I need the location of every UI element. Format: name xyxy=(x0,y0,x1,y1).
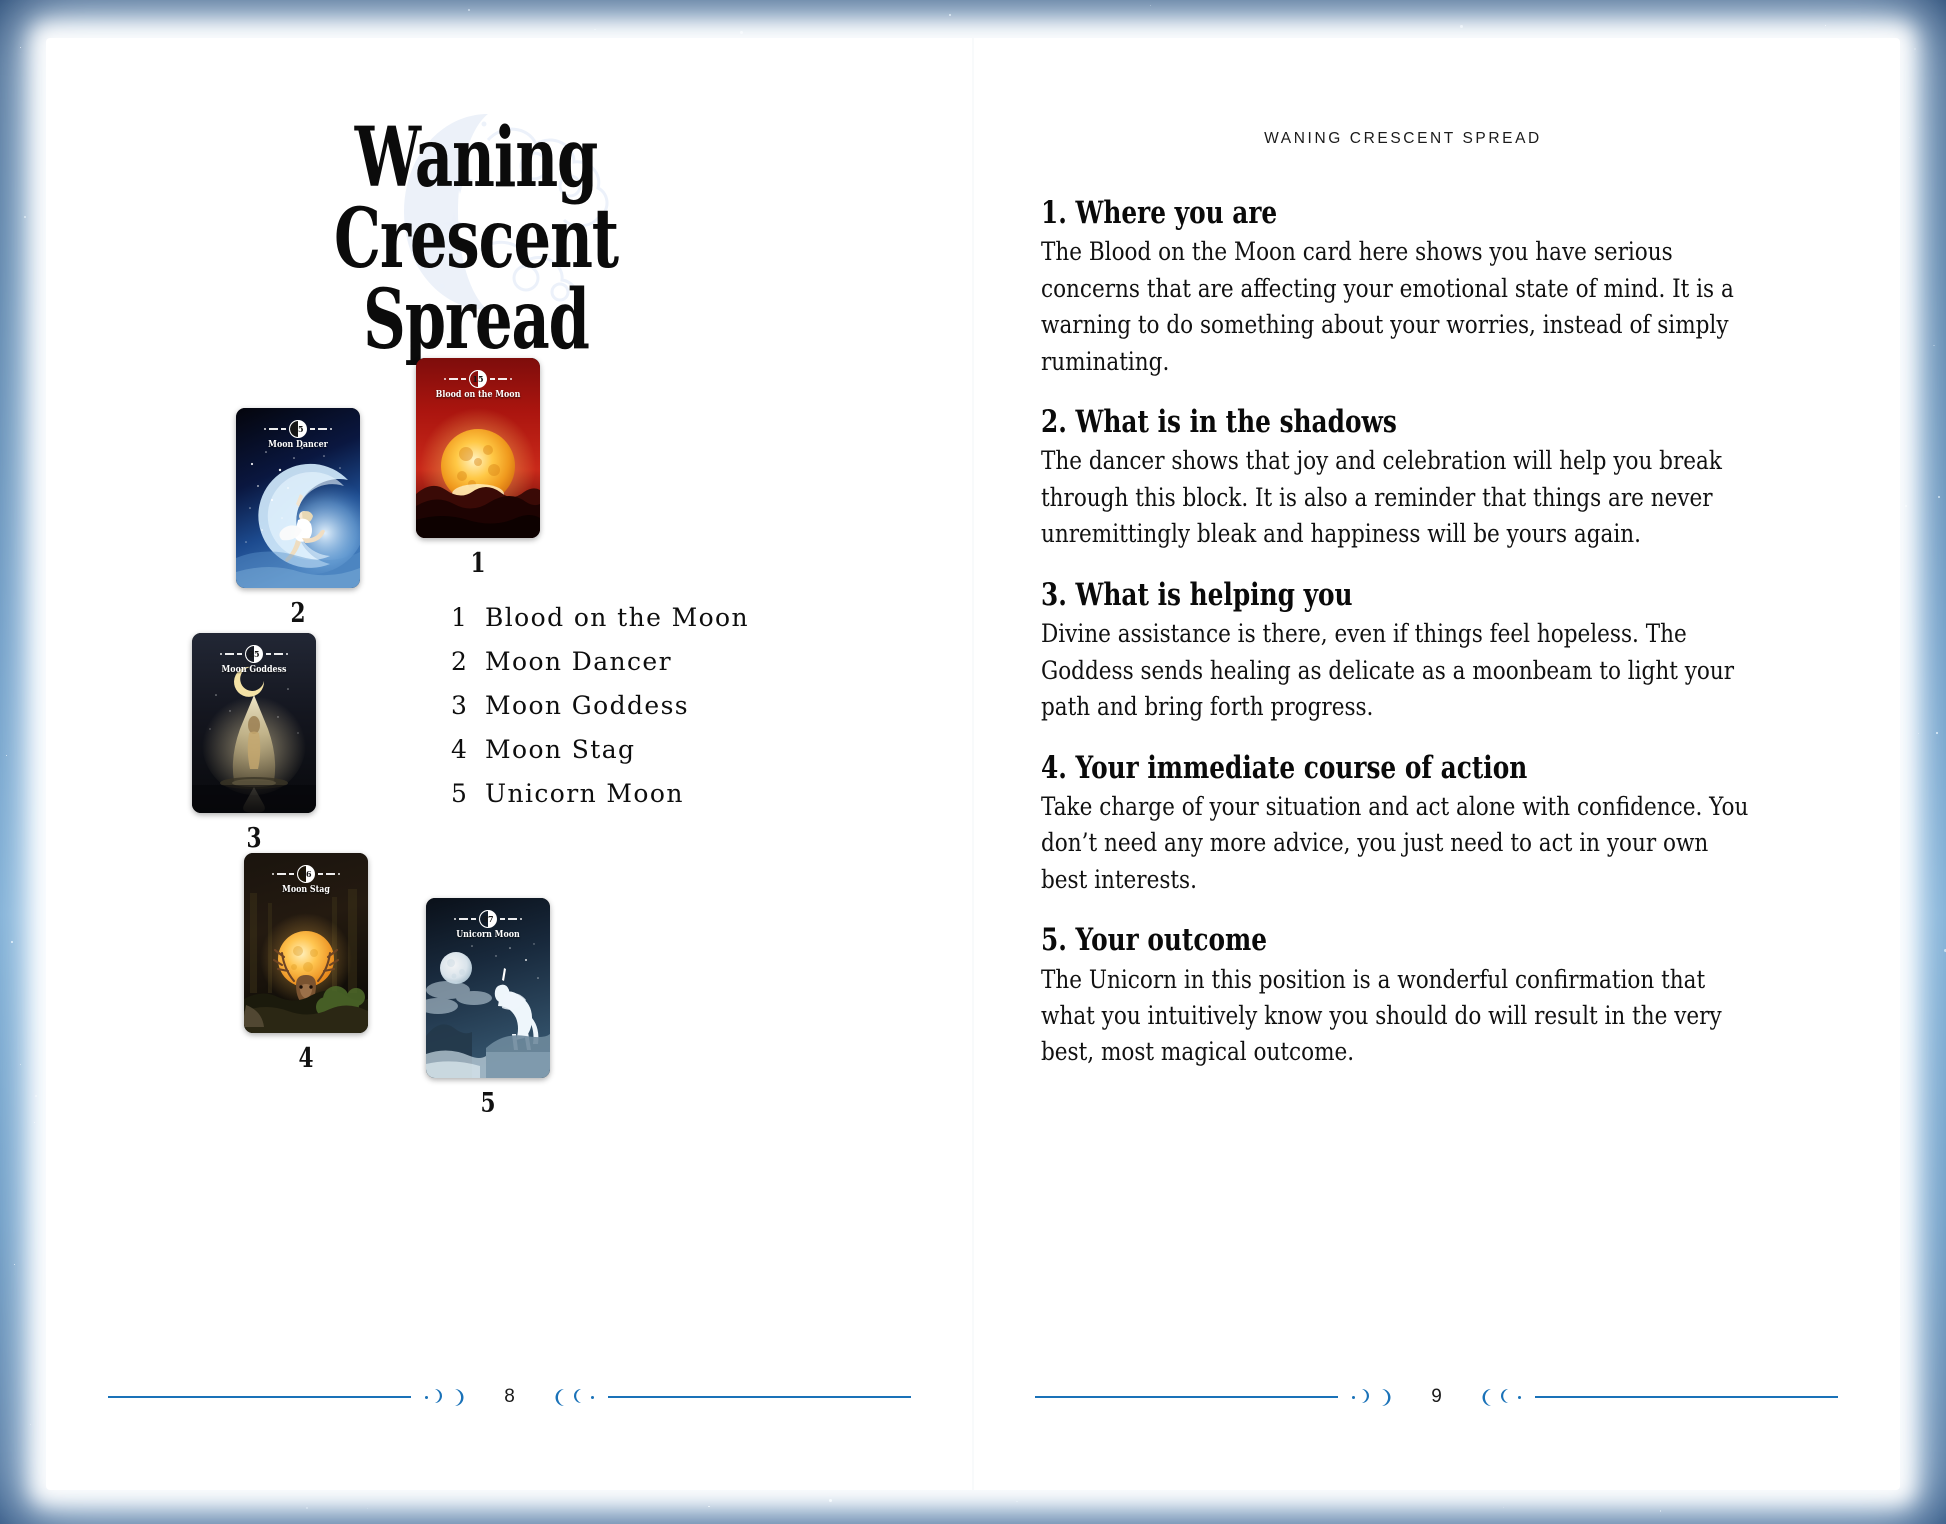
page-number-right: 9 xyxy=(1409,1386,1464,1408)
legend-label: Moon Goddess xyxy=(485,691,689,720)
card-blood-on-the-moon[interactable]: 15 Blood on the Moon xyxy=(416,358,540,538)
crescent-left-icon-large xyxy=(551,1388,566,1407)
moon-phase-icon: 37 xyxy=(479,910,497,928)
card-emblem-moon-goddess: 25 xyxy=(220,645,288,663)
running-header: WANING CRESCENT SPREAD xyxy=(1033,130,1773,148)
card-slot-4[interactable]: 36 Moon Stag 4 xyxy=(244,853,368,1033)
meaning-body-2: The dancer shows that joy and celebratio… xyxy=(1041,443,1759,552)
meaning-heading-4: 4. Your immediate course of action xyxy=(1041,751,1761,786)
moon-phase-icon: 25 xyxy=(245,645,263,663)
right-page: WANING CRESCENT SPREAD 1. Where you are … xyxy=(973,38,1900,1490)
meaning-heading-3: 3. What is helping you xyxy=(1041,578,1761,613)
meaning-heading-2: 2. What is in the shadows xyxy=(1041,405,1761,440)
legend-number: 2 xyxy=(451,647,485,676)
meaning-section-4: 4. Your immediate course of action Take … xyxy=(1041,751,1761,899)
card-position-number-5: 5 xyxy=(438,1088,537,1119)
card-slot-2[interactable]: 15 Moon Dancer 2 xyxy=(236,408,360,588)
card-unicorn-moon[interactable]: 37 Unicorn Moon xyxy=(426,898,550,1078)
legend-item: 2 Moon Dancer xyxy=(451,647,871,676)
meaning-body-5: The Unicorn in this position is a wonder… xyxy=(1041,962,1759,1071)
footer-rule-left xyxy=(108,1396,411,1398)
crescent-right-icon-large xyxy=(453,1388,468,1407)
meaning-body-1: The Blood on the Moon card here shows yo… xyxy=(1041,234,1759,380)
crescent-left-icon-small xyxy=(1498,1388,1513,1407)
meaning-body-4: Take charge of your situation and act al… xyxy=(1041,789,1759,898)
card-slot-1[interactable]: 15 Blood on the Moon 1 xyxy=(416,358,540,538)
card-emblem-moon-stag: 36 xyxy=(272,865,340,883)
card-position-number-2: 2 xyxy=(248,598,347,629)
legend-label: Unicorn Moon xyxy=(485,779,684,808)
legend-number: 5 xyxy=(451,779,485,808)
footer-moon-ornament-waning xyxy=(537,1388,608,1407)
card-moon-dancer[interactable]: 15 Moon Dancer xyxy=(236,408,360,588)
card-title-blood-on-the-moon: Blood on the Moon xyxy=(423,390,532,400)
crescent-right-icon-small xyxy=(433,1388,448,1407)
card-slot-3[interactable]: 25 Moon Goddess 3 xyxy=(192,633,316,813)
meaning-heading-1: 1. Where you are xyxy=(1041,196,1761,231)
crescent-right-icon-large xyxy=(1380,1388,1395,1407)
crescent-left-icon-large xyxy=(1478,1388,1493,1407)
right-page-footer: 9 xyxy=(973,1382,1900,1412)
legend-label: Moon Dancer xyxy=(485,647,672,676)
card-title-moon-dancer: Moon Dancer xyxy=(243,440,352,450)
card-position-number-1: 1 xyxy=(428,548,527,579)
legend-item: 4 Moon Stag xyxy=(451,735,871,764)
left-page-footer: 8 xyxy=(46,1382,973,1412)
legend-number: 1 xyxy=(451,603,485,632)
page-title-line-2: Spread xyxy=(210,280,743,361)
card-emblem-blood-on-the-moon: 15 xyxy=(444,370,512,388)
footer-moon-ornament-waning xyxy=(1464,1388,1535,1407)
moon-phase-icon: 15 xyxy=(289,420,307,438)
legend-number: 3 xyxy=(451,691,485,720)
footer-moon-ornament-waxing xyxy=(411,1388,482,1407)
footer-rule-right xyxy=(1535,1396,1838,1398)
meaning-section-5: 5. Your outcome The Unicorn in this posi… xyxy=(1041,923,1761,1071)
legend-number: 4 xyxy=(451,735,485,764)
legend-label: Blood on the Moon xyxy=(485,603,749,632)
legend-item: 3 Moon Goddess xyxy=(451,691,871,720)
card-position-number-4: 4 xyxy=(256,1043,355,1074)
page-title-line-1: Waning Crescent xyxy=(334,110,618,287)
card-moon-goddess[interactable]: 25 Moon Goddess xyxy=(192,633,316,813)
meaning-section-1: 1. Where you are The Blood on the Moon c… xyxy=(1041,196,1761,380)
book-spread: Waning Crescent Spread xyxy=(46,38,1900,1490)
meaning-section-2: 2. What is in the shadows The dancer sho… xyxy=(1041,405,1761,553)
meaning-section-3: 3. What is helping you Divine assistance… xyxy=(1041,578,1761,726)
crescent-right-icon-small xyxy=(1360,1388,1375,1407)
legend-item: 1 Blood on the Moon xyxy=(451,603,871,632)
moon-phase-icon: 15 xyxy=(469,370,487,388)
card-title-moon-goddess: Moon Goddess xyxy=(199,665,308,675)
footer-rule-left xyxy=(1035,1396,1338,1398)
title-block: Waning Crescent Spread xyxy=(106,118,846,348)
footer-moon-ornament-waxing xyxy=(1338,1388,1409,1407)
card-position-number-3: 3 xyxy=(204,823,303,854)
card-title-unicorn-moon: Unicorn Moon xyxy=(433,930,542,940)
meaning-body-3: Divine assistance is there, even if thin… xyxy=(1041,616,1759,725)
card-slot-5[interactable]: 37 Unicorn Moon 5 xyxy=(426,898,550,1078)
spread-meanings-column: 1. Where you are The Blood on the Moon c… xyxy=(1041,196,1761,1096)
legend-item: 5 Unicorn Moon xyxy=(451,779,871,808)
page-title: Waning Crescent Spread xyxy=(210,118,743,362)
card-emblem-unicorn-moon: 37 xyxy=(454,910,522,928)
moon-phase-icon: 36 xyxy=(297,865,315,883)
footer-rule-right xyxy=(608,1396,911,1398)
card-moon-stag[interactable]: 36 Moon Stag xyxy=(244,853,368,1033)
card-title-moon-stag: Moon Stag xyxy=(251,885,360,895)
card-emblem-moon-dancer: 15 xyxy=(264,420,332,438)
crescent-left-icon-small xyxy=(571,1388,586,1407)
page-number-left: 8 xyxy=(482,1386,537,1408)
meaning-heading-5: 5. Your outcome xyxy=(1041,923,1761,958)
card-legend-list: 1 Blood on the Moon 2 Moon Dancer 3 Moon… xyxy=(451,603,871,823)
legend-label: Moon Stag xyxy=(485,735,635,764)
left-page: Waning Crescent Spread xyxy=(46,38,973,1490)
